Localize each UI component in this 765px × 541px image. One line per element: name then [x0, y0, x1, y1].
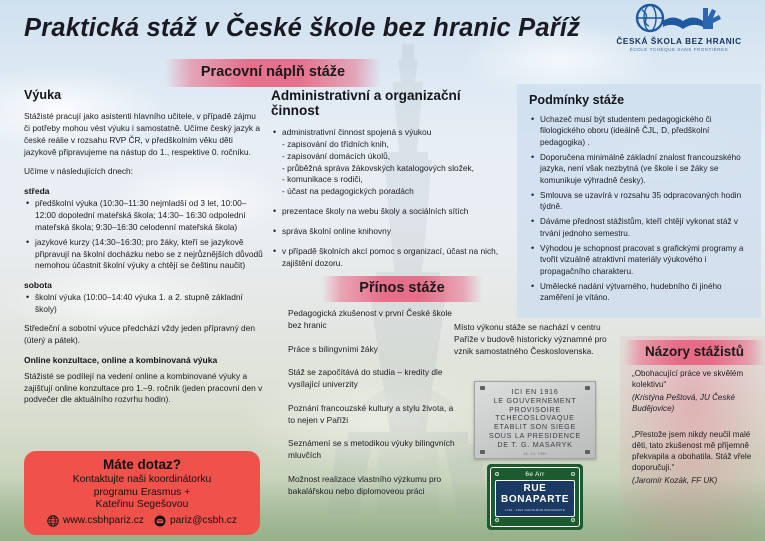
- plaque-bolt: [480, 386, 485, 390]
- plaque-line: DE T. G. MASARYK: [475, 441, 595, 450]
- sub-item: - průběžná správa žákovských katalogovýc…: [282, 163, 509, 175]
- list-item-label: administrativní činnost spojená s výukou: [282, 127, 431, 137]
- organization-logo: ČESKÁ ŠKOLA BEZ HRANIC ÉCOLE TCHÈQUE SAN…: [599, 2, 759, 56]
- list-item: Smlouva se uzavírá v rozsahu 35 odpracov…: [529, 190, 751, 213]
- online-text: Stážisté se podílejí na vedení online a …: [24, 371, 264, 407]
- admin-list: administrativní činnost spojená s výukou…: [271, 127, 509, 269]
- envelope-circle-icon: [154, 515, 166, 527]
- banner-testimonials: Názory stážistů: [624, 340, 765, 365]
- list-item: Umělecké nadání výtvarného, hudebního či…: [529, 281, 751, 304]
- teaching-saturday-label: sobota: [24, 280, 264, 290]
- list-item: jazykové kurzy (14:30–16:30; pro žáky, k…: [24, 237, 264, 273]
- poster-root: Praktická stáž v České škole bez hranic …: [0, 0, 765, 541]
- sub-item: - zapisování do třídních knih,: [282, 139, 509, 151]
- location-note: Místo výkonu stáže se nachází v centru P…: [454, 322, 614, 357]
- street-sign-plate: RUE BONAPARTE 1792 - 1821 NAPOLÉON BONAP…: [495, 480, 575, 517]
- list-item: předškolní výuka (10:30–11:30 nejmladší …: [24, 198, 264, 234]
- logo-name: ČESKÁ ŠKOLA BEZ HRANIC: [599, 37, 759, 46]
- teaching-prep-note: Středeční a sobotní výuce předchází vždy…: [24, 323, 264, 347]
- street-sign-line2: BONAPARTE: [496, 495, 574, 506]
- conditions-panel: Podmínky stáže Uchazeč musí být studente…: [517, 84, 761, 318]
- email-text: pariz@csbh.cz: [170, 515, 237, 526]
- list-item: administrativní činnost spojená s výukou…: [271, 127, 509, 198]
- contact-line-1: Kontaktujte naši koordinátorku: [32, 474, 252, 487]
- email-link[interactable]: pariz@csbh.cz: [154, 515, 237, 527]
- sign-bolt: [571, 518, 575, 522]
- list-item: Doporučena minimálně základní znalost fr…: [529, 152, 751, 186]
- sign-bolt: [495, 518, 499, 522]
- benefit-item: Pedagogická zkušenost v první České škol…: [288, 308, 460, 332]
- testimonials-column: „Obohacující práce ve skvělém kolektivu“…: [624, 368, 765, 500]
- memorial-plaque: ICI EN 1916 LE GOUVERNEMENT PROVISOIRE T…: [474, 381, 596, 459]
- contact-line-3: Kateřinu Segešovou: [32, 499, 252, 512]
- testimonial: „Obohacující práce ve skvělém kolektivu“…: [632, 368, 757, 415]
- testimonial-author: (Kristýna Peštová, JU České Budějovice): [632, 392, 757, 414]
- contact-title: Máte dotaz?: [32, 457, 252, 472]
- list-item: Uchazeč musí být studentem pedagogického…: [529, 114, 751, 148]
- plaque-date: 28. 10. 1990: [475, 452, 595, 456]
- page-title: Praktická stáž v České škole bez hranic …: [24, 14, 580, 43]
- sub-item: - účast na pedagogických poradách: [282, 186, 509, 198]
- street-sign-arrondissement: 6e Arr: [491, 471, 579, 478]
- plaque-bolt: [480, 450, 485, 454]
- contact-box: Máte dotaz? Kontaktujte naši koordinátor…: [24, 451, 260, 535]
- teaching-column: Výuka Stážisté pracují jako asistenti hl…: [24, 88, 264, 414]
- sub-item: - komunikace s rodiči,: [282, 174, 509, 186]
- teaching-heading: Výuka: [24, 88, 264, 102]
- header: Praktická stáž v České škole bez hranic …: [0, 0, 765, 56]
- website-text: www.csbhpariz.cz: [63, 515, 144, 526]
- teaching-saturday-list: školní výuka (10:00–14:40 výuka 1. a 2. …: [24, 292, 264, 316]
- street-sign: 6e Arr RUE BONAPARTE 1792 - 1821 NAPOLÉO…: [487, 464, 583, 530]
- benefit-item: Seznámení se s metodikou výuky bilingvní…: [288, 438, 460, 462]
- list-item: správa školní online knihovny: [271, 226, 509, 238]
- admin-heading: Administrativní a organizační činnost: [271, 88, 509, 118]
- contact-line-2: programu Erasmus +: [32, 487, 252, 500]
- list-item: Výhodou je schopnost pracovat s grafický…: [529, 243, 751, 277]
- benefit-item: Stáž se započítává do studia – kredity d…: [288, 367, 460, 391]
- contact-links: www.csbhpariz.cz pariz@csbh.cz: [32, 515, 252, 527]
- teaching-wednesday-list: předškolní výuka (10:30–11:30 nejmladší …: [24, 198, 264, 272]
- sign-bolt: [495, 472, 499, 476]
- list-item: Dáváme přednost stážistům, kteří chtějí …: [529, 216, 751, 239]
- list-item: v případě školních akcí pomoc s organiza…: [271, 246, 509, 270]
- testimonial-quote: „Obohacující práce ve skvělém kolektivu“: [632, 368, 757, 390]
- sign-bolt: [571, 472, 575, 476]
- benefits-column: Pedagogická zkušenost v první České škol…: [288, 308, 460, 509]
- conditions-heading: Podmínky stáže: [529, 93, 751, 107]
- sub-item: - zapisování domácích úkolů,: [282, 151, 509, 163]
- banner-work-content: Pracovní náplň stáže: [165, 59, 381, 87]
- plaque-bolt: [585, 450, 590, 454]
- teaching-wednesday-label: středa: [24, 186, 264, 196]
- plaque-bolt: [585, 386, 590, 390]
- list-item: školní výuka (10:00–14:40 výuka 1. a 2. …: [24, 292, 264, 316]
- logo-subtitle: ÉCOLE TCHÈQUE SANS FRONTIÈRES: [599, 47, 759, 52]
- testimonial-author: (Jaromír Kozák, FF UK): [632, 475, 757, 486]
- benefit-item: Možnost realizace vlastního výzkumu pro …: [288, 474, 460, 498]
- globe-icon: [47, 515, 59, 527]
- conditions-list: Uchazeč musí být studentem pedagogického…: [529, 114, 751, 304]
- website-link[interactable]: www.csbhpariz.cz: [47, 515, 144, 527]
- globe-bridge-logo-icon: [633, 2, 725, 36]
- teaching-intro: Stážisté pracují jako asistenti hlavního…: [24, 111, 264, 158]
- street-sign-inner: 6e Arr RUE BONAPARTE 1792 - 1821 NAPOLÉO…: [490, 467, 580, 527]
- list-item: prezentace školy na webu školy a sociáln…: [271, 206, 509, 218]
- teaching-days-intro: Učíme v následujících dnech:: [24, 166, 264, 178]
- street-sign-small-text: 1792 - 1821 NAPOLÉON BONAPARTE: [496, 508, 574, 512]
- online-heading: Online konzultace, online a kombinovaná …: [24, 355, 264, 365]
- benefit-item: Poznání francouzské kultury a stylu živo…: [288, 403, 460, 427]
- admin-column: Administrativní a organizační činnost ad…: [271, 88, 509, 272]
- benefit-item: Práce s bilingvními žáky: [288, 344, 460, 356]
- banner-benefits: Přínos stáže: [322, 276, 482, 302]
- testimonial: „Přestože jsem nikdy neučil malé děti, t…: [632, 429, 757, 487]
- testimonial-quote: „Přestože jsem nikdy neučil malé děti, t…: [632, 429, 757, 474]
